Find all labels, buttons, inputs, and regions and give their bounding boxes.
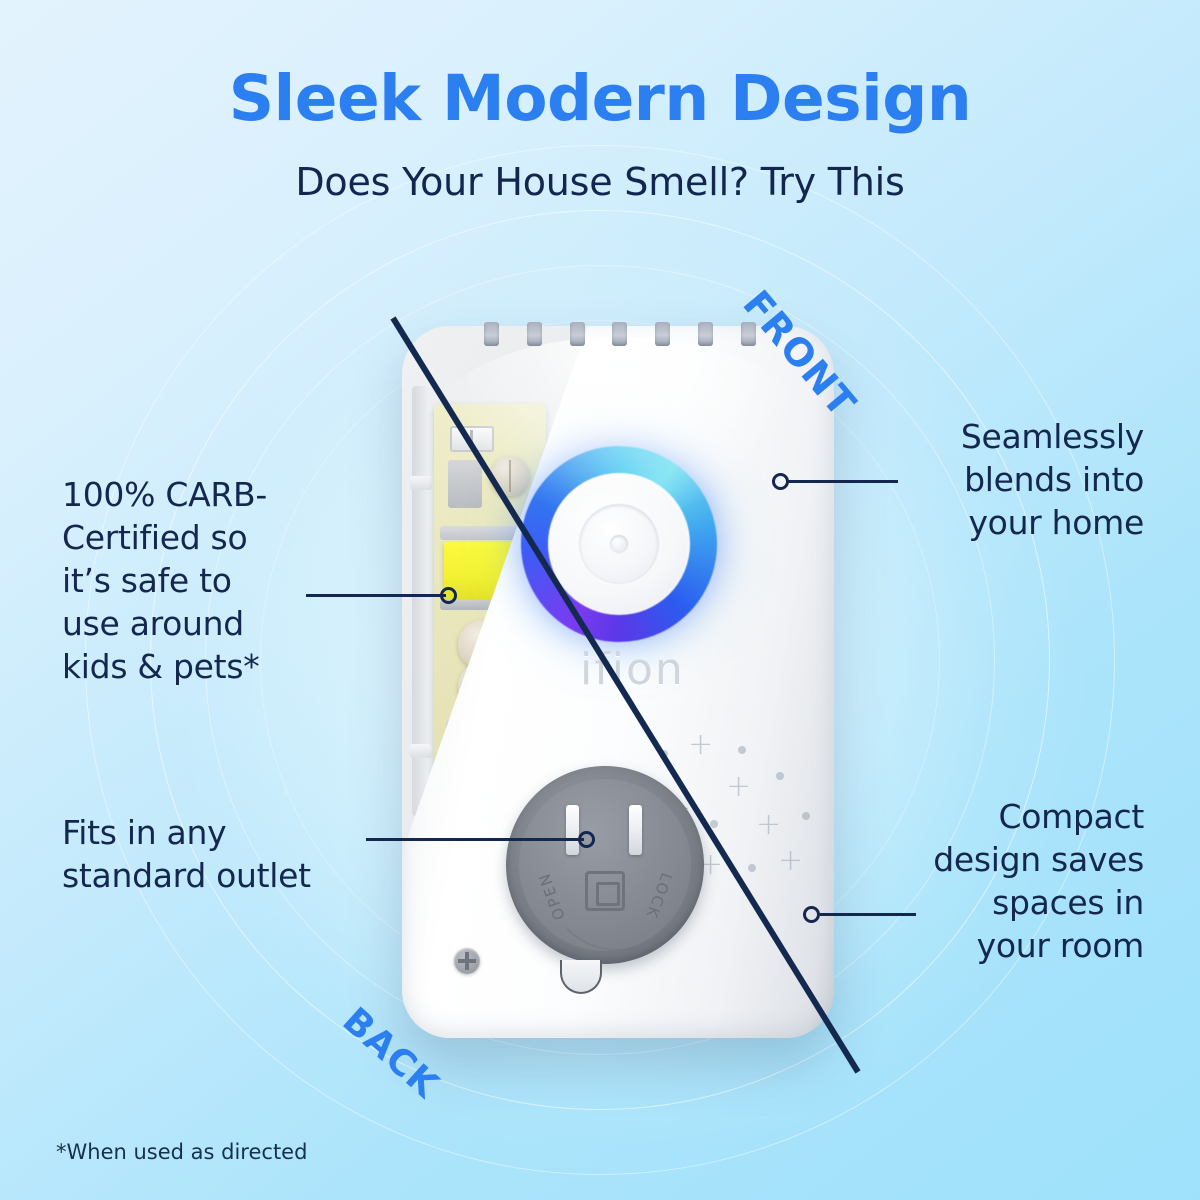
phillips-screw-icon [454,948,480,974]
leader-dot-outlet [578,831,595,848]
vent-slot [612,322,627,346]
ion-plus-icon: + [726,772,751,802]
leader-line-blend [788,480,898,483]
leader-dot-compact [803,906,820,923]
vent-slot [570,322,585,346]
rotating-plug-disc[interactable]: OPEN LOCK [506,766,704,964]
leader-dot-blend [772,473,789,490]
chip-component [448,460,482,508]
vent-slot [527,322,542,346]
plug-release-tab[interactable] [560,960,602,994]
capacitor-large-1 [458,620,508,670]
led-halo-ring [521,446,717,642]
ion-plus-icon: + [756,810,781,840]
page-subtitle: Does Your House Smell? Try This [0,160,1200,204]
transformer-component [444,542,532,600]
solder-point [488,776,500,788]
device-body: ifion + + + + + + [402,326,834,1038]
cutaway-clip-bottom [410,744,432,758]
leader-line-carb [306,594,446,597]
ion-dot-icon [738,746,746,754]
footnote-text: *When used as directed [56,1140,307,1164]
chip-component-2 [446,720,484,766]
power-button-center [610,535,628,553]
brand-emboss: ifion [580,644,685,695]
ion-plus-icon: + [688,730,713,760]
power-button[interactable] [579,504,659,584]
ion-dot-icon [710,820,718,828]
leader-dot-carb [440,587,457,604]
capacitor-small [490,456,530,496]
capacitor-large-2 [458,662,508,712]
vent-slot [698,322,713,346]
vent-slot [655,322,670,346]
fuse-component [450,426,494,452]
housing-rib-3 [542,628,572,638]
plug-disc-face: OPEN LOCK [519,779,691,951]
vent-slot [484,322,499,346]
callout-blends-in: Seamlessly blends into your home [879,416,1144,545]
leader-line-outlet [366,838,584,841]
housing-rib-1 [542,494,572,504]
infographic-canvas: Sleek Modern Design Does Your House Smel… [0,0,1200,1200]
callout-carb-certified: 100% CARB- Certified so it’s safe to use… [62,474,337,688]
ion-dot-icon [660,750,668,758]
callout-compact-design: Compact design saves spaces in your room [864,796,1144,968]
ion-dot-icon [776,772,784,780]
top-vent-grille [484,322,756,348]
ion-dot-icon [748,864,756,872]
leader-line-compact [820,913,916,916]
ion-plus-icon: + [778,846,803,876]
circuit-board [434,404,546,804]
product-image: ifion + + + + + + [402,326,834,1038]
halo-inner-disc [548,473,690,615]
page-title: Sleek Modern Design [0,62,1200,135]
ion-dot-icon [802,812,810,820]
callout-standard-outlet: Fits in any standard outlet [62,812,382,898]
cutaway-clip-top [410,476,432,490]
